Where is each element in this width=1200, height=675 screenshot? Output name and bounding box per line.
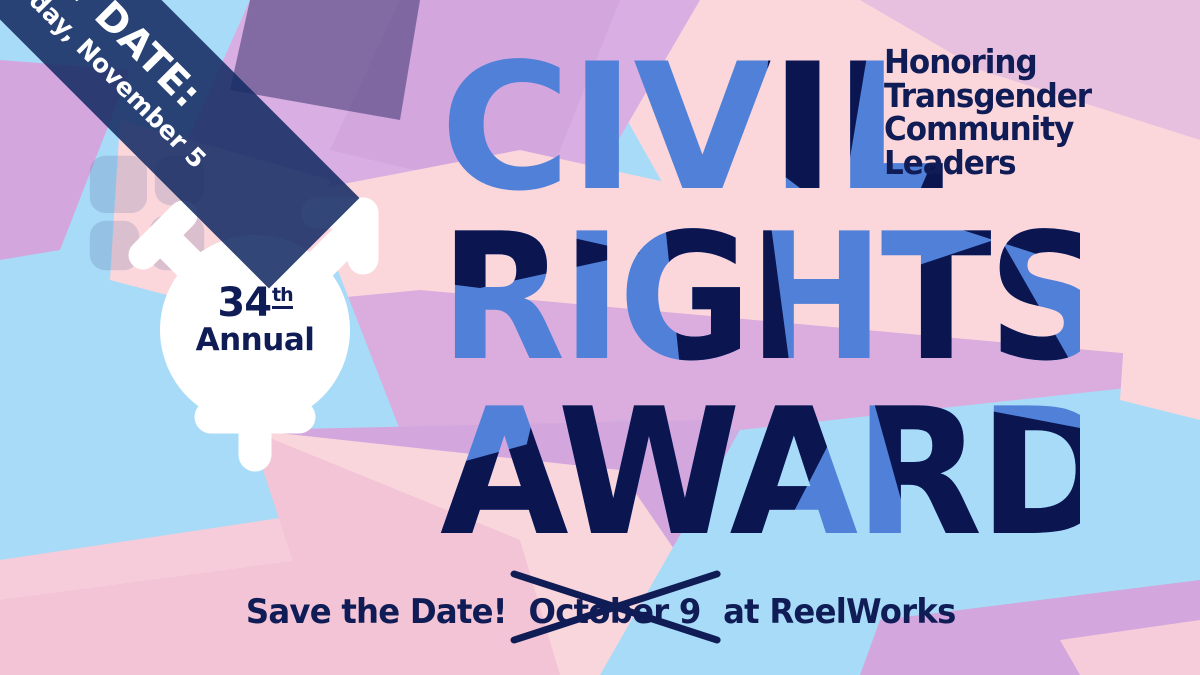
honoring-line-4: Leaders [884, 146, 1166, 180]
save-the-date-line: Save the Date! October 9 at ReelWorks [0, 592, 1200, 632]
poster-canvas: 34th Annual CIVIL RIGHTS AWARDS CIVIL RI… [0, 0, 1200, 675]
savedate-suffix: at ReelWorks [723, 592, 955, 632]
bg-shape-pink-rightedge [1120, 230, 1200, 420]
honoring-line-3: Community [884, 112, 1166, 146]
honoring-line-1: Honoring [884, 45, 1166, 79]
savedate-prefix: Save the Date! [246, 592, 507, 632]
honoring-headline: Honoring Transgender Community Leaders [884, 45, 1184, 180]
honoring-line-2: Transgender [884, 79, 1166, 113]
savedate-struck-wrapper: October 9 [524, 592, 705, 632]
savedate-struck-date: October 9 [529, 592, 701, 632]
